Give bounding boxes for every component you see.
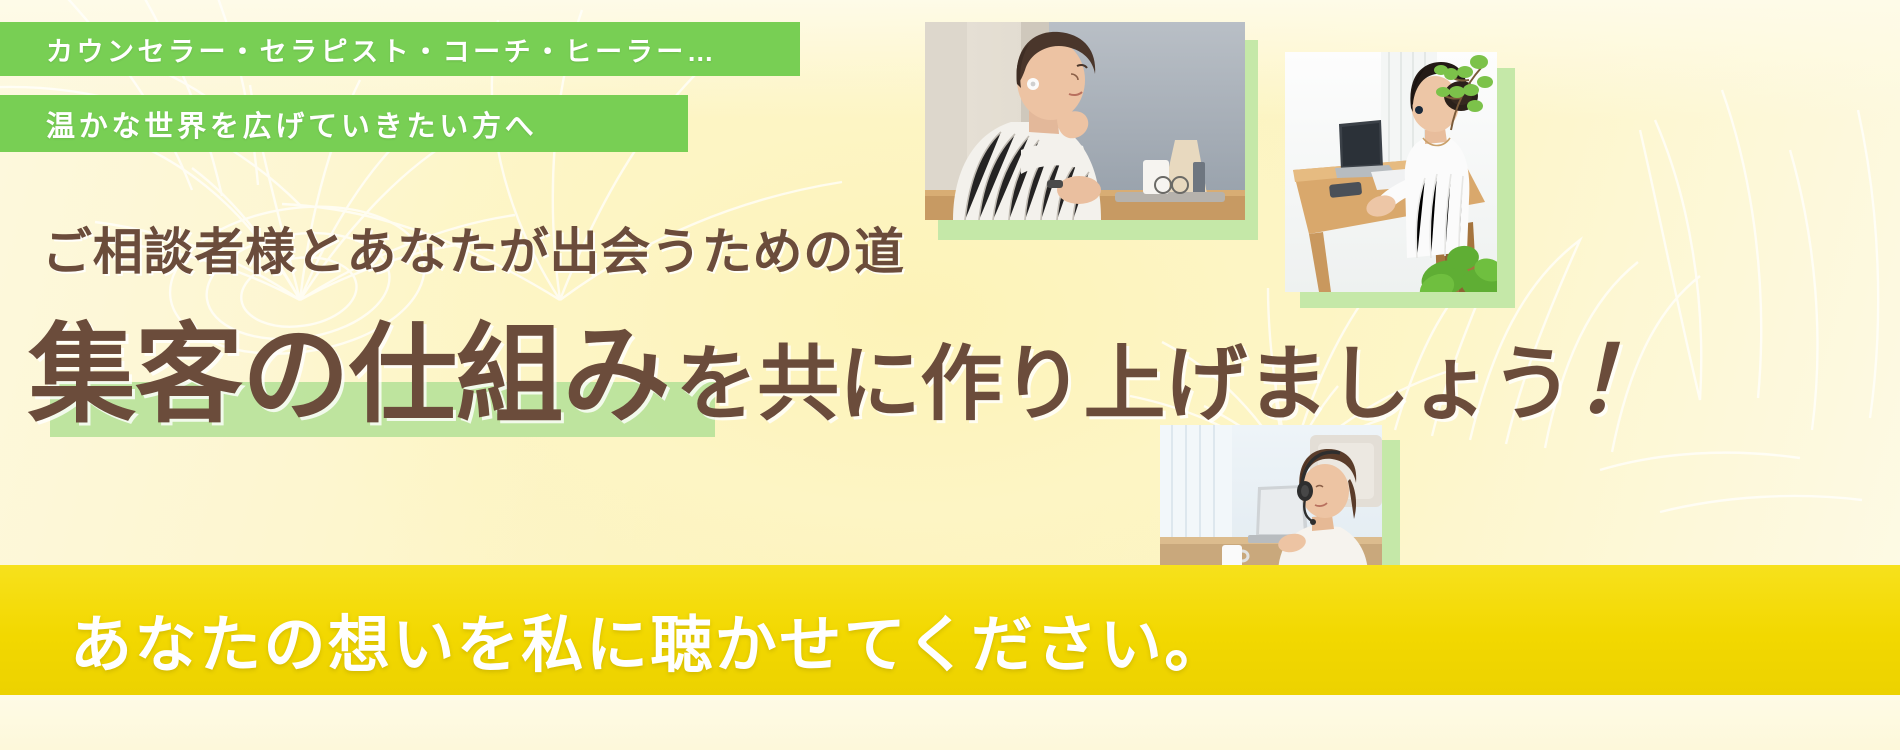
headline-highlight-text: 集客の仕組み	[28, 288, 670, 444]
subheading: ご相談者様とあなたが出会うための道	[42, 212, 905, 284]
promotional-banner: カウンセラー・セラピスト・コーチ・ヒーラー… 温かな世界を広げていきたい方へ ご…	[0, 0, 1900, 750]
photo-woman-from-behind-at-desk-with-plants	[1285, 52, 1497, 292]
headline-exclamation: ！	[1573, 306, 1665, 439]
tag-professions-label: カウンセラー・セラピスト・コーチ・ヒーラー…	[46, 30, 717, 69]
photo-woman-with-earbuds-at-laptop	[925, 22, 1245, 220]
tag-audience-label: 温かな世界を広げていきたい方へ	[46, 103, 538, 145]
bottom-cream-strip	[0, 695, 1900, 750]
main-headline: 集客の仕組み を共に作り上げましょう ！	[28, 288, 1665, 444]
tag-professions: カウンセラー・セラピスト・コーチ・ヒーラー…	[0, 22, 800, 76]
photo-woman-with-headset-at-laptop	[1160, 425, 1382, 575]
bottom-band-text: あなたの想いを私に聴かせてください。	[70, 594, 1229, 684]
tag-audience: 温かな世界を広げていきたい方へ	[0, 95, 688, 152]
headline-rest-text: を共に作り上げましょう	[670, 317, 1574, 436]
